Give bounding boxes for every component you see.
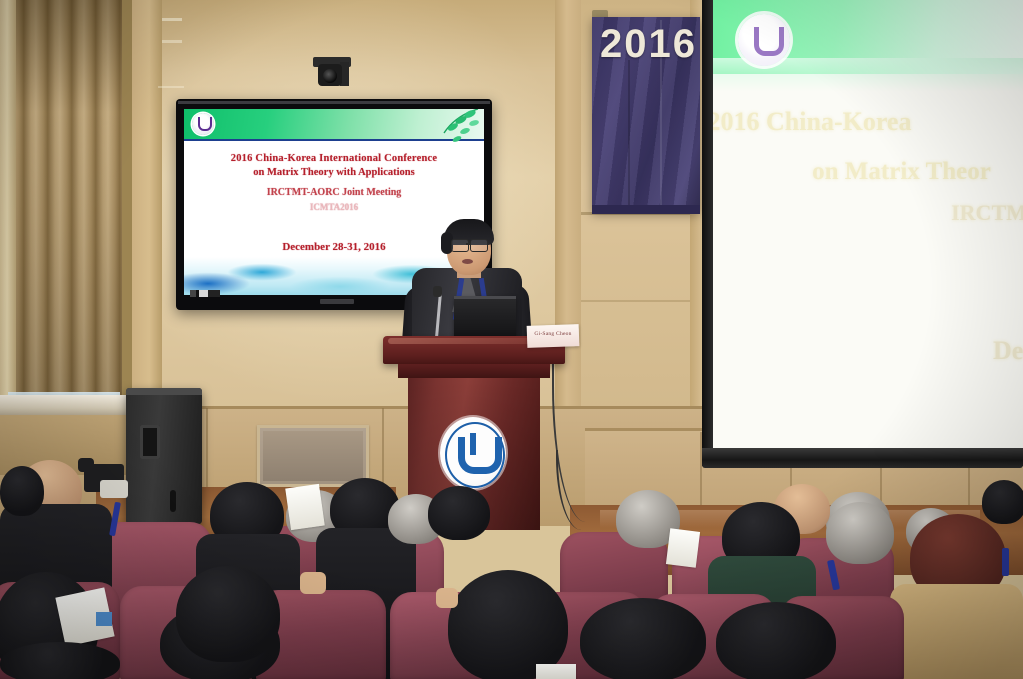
slide-line-1: 2016 China-Korea International Conferenc… bbox=[184, 153, 484, 164]
paper-handout bbox=[285, 484, 325, 530]
lanyard bbox=[1002, 548, 1009, 576]
audience-head bbox=[428, 486, 490, 540]
projected-line-3: IRCTMT-AO bbox=[860, 200, 1023, 226]
slide-line-2: on Matrix Theory with Applications bbox=[184, 167, 484, 178]
loudspeaker-top bbox=[126, 388, 202, 395]
audience-head bbox=[0, 466, 44, 516]
microphone-capsule-icon bbox=[433, 286, 442, 297]
audience-head bbox=[982, 480, 1023, 524]
projected-logo-icon bbox=[738, 14, 790, 66]
audience-head bbox=[580, 598, 706, 679]
presenter-mouth bbox=[462, 259, 473, 264]
audience-body bbox=[890, 584, 1023, 679]
curtain-shading bbox=[0, 0, 122, 400]
projected-line-1: 2016 China-Korea bbox=[712, 107, 965, 137]
tv-bezel-highlight bbox=[178, 101, 490, 104]
leaf-decoration-icon bbox=[420, 109, 482, 153]
laptop-lid-edge bbox=[454, 296, 516, 299]
wall-seam bbox=[581, 300, 693, 302]
logo-u-glyph bbox=[754, 27, 784, 56]
audience-hand bbox=[300, 572, 326, 594]
audience-head bbox=[448, 570, 568, 679]
audience-head bbox=[176, 566, 280, 662]
window-sill bbox=[0, 395, 130, 417]
projection-screen: 2016 China-Korea on Matrix Theor IRCTMT-… bbox=[712, 0, 1023, 448]
paper-handout bbox=[666, 528, 700, 567]
audience-head bbox=[716, 602, 836, 679]
camera-lens-icon bbox=[78, 458, 94, 472]
slide-line-4: ICMTA2016 bbox=[184, 202, 484, 212]
slide-date-line: December 28-31, 2016 bbox=[184, 241, 484, 253]
camera-hand bbox=[100, 480, 128, 498]
wall-joint bbox=[158, 86, 184, 88]
paper-handout bbox=[536, 664, 576, 679]
tv-brand-label bbox=[320, 299, 354, 304]
audience-head bbox=[0, 642, 120, 679]
podium-neck bbox=[398, 364, 550, 378]
paper-sticker bbox=[96, 612, 112, 626]
eyeglasses-right-lens-icon bbox=[470, 239, 488, 252]
auditorium-photo: 2016 China-Korea International Conferenc… bbox=[0, 0, 1023, 679]
audience-head bbox=[826, 502, 894, 564]
screen-left-edge bbox=[702, 0, 713, 452]
conference-logo-icon bbox=[192, 113, 214, 135]
presenter-laptop bbox=[454, 296, 516, 340]
slide-line-3: IRCTMT-AORC Joint Meeting bbox=[184, 187, 484, 198]
audience-hand bbox=[436, 588, 458, 608]
curtain-edge-panel bbox=[0, 0, 16, 410]
audience-area bbox=[0, 452, 1023, 679]
speaker-name-card-text: Gi-Sang Cheon bbox=[529, 331, 577, 337]
eyeglasses-bridge bbox=[466, 243, 471, 245]
banner-bottom-hem bbox=[592, 205, 700, 214]
tv-indicator-lights bbox=[190, 290, 220, 297]
projected-date-line: Decembe bbox=[888, 336, 1023, 366]
logo-u-glyph bbox=[198, 117, 212, 131]
wall-joint bbox=[162, 40, 182, 43]
eyeglasses-left-lens-icon bbox=[451, 239, 469, 252]
wall-joint bbox=[162, 18, 182, 21]
camera-lens-icon bbox=[323, 69, 337, 83]
banner-fold bbox=[628, 60, 630, 210]
projected-line-2: on Matrix Theor bbox=[746, 158, 1023, 186]
